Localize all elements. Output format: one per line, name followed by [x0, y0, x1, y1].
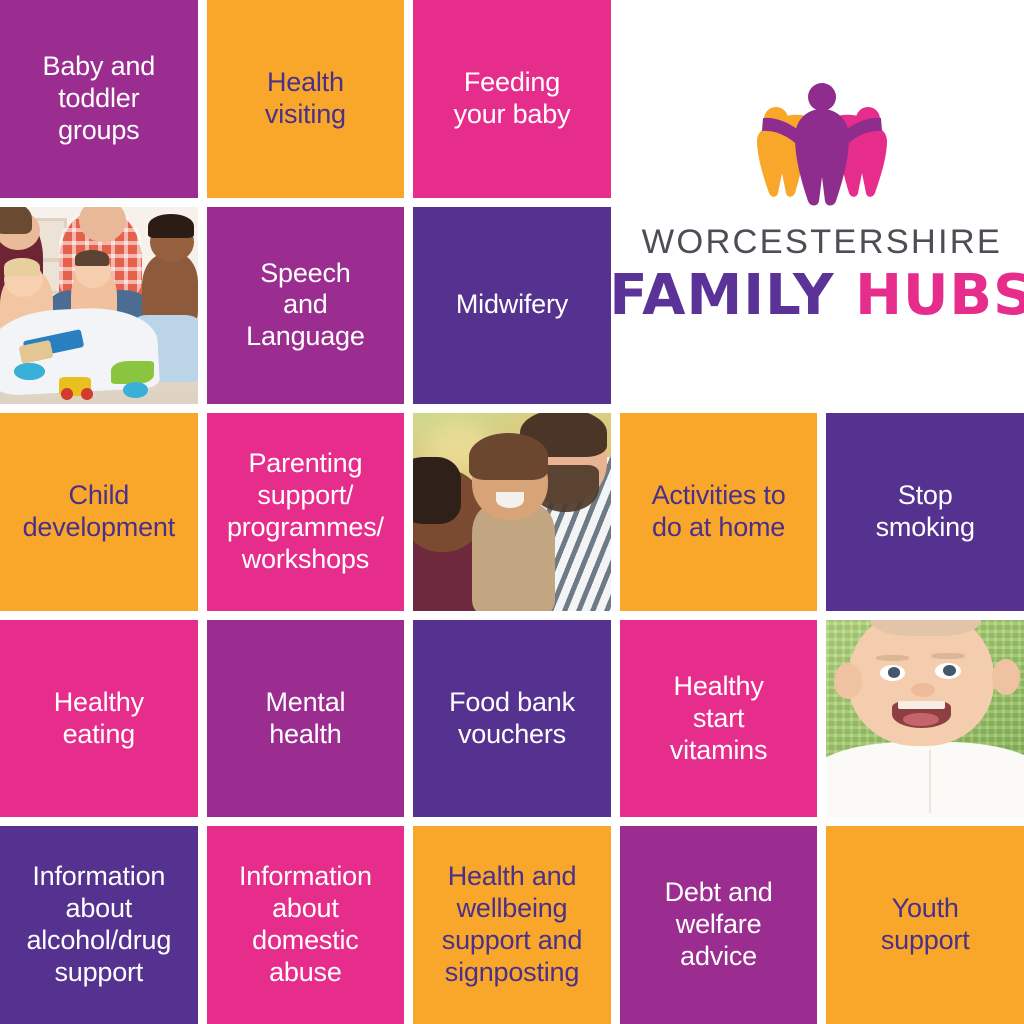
logo-text-family-hubs: FAMILY HUBS — [609, 268, 1024, 324]
family-outdoors-photo — [413, 413, 611, 611]
tile-health-wellbeing-support[interactable]: Health and wellbeing support and signpos… — [413, 826, 611, 1024]
tile-feeding-your-baby[interactable]: Feeding your baby — [413, 0, 611, 198]
playgroup-photo — [0, 207, 198, 405]
tile-label: Parenting support/ programmes/ workshops — [219, 446, 392, 577]
tile-speech-and-language[interactable]: Speech and Language — [207, 207, 405, 405]
tile-food-bank-vouchers[interactable]: Food bank vouchers — [413, 620, 611, 818]
playgroup-photo-toyC — [61, 388, 73, 400]
family-of-three-icon — [738, 81, 906, 213]
smiling-baby-photo-body — [826, 742, 1024, 817]
tile-stop-smoking[interactable]: Stop smoking — [826, 413, 1024, 611]
logo-text-hubs: HUBS — [855, 263, 1024, 328]
playgroup-photo-toyF — [123, 382, 149, 398]
family-outdoors-photo-kid-smile — [496, 492, 524, 508]
tile-label: Baby and toddler groups — [35, 49, 164, 149]
tile-label: Child development — [15, 478, 183, 546]
family-outdoors-photo-kid-hair — [469, 433, 548, 480]
smiling-baby-photo-browL — [876, 655, 910, 661]
playgroup-photo-baby1-hair — [4, 258, 40, 276]
tile-label: Healthy eating — [46, 685, 152, 753]
tile-label: Health visiting — [257, 65, 354, 133]
tile-domestic-abuse[interactable]: Information about domestic abuse — [207, 826, 405, 1024]
tile-activities-to-do-at-home[interactable]: Activities to do at home — [620, 413, 818, 611]
smiling-baby-photo-pupR — [943, 665, 956, 676]
tile-label: Health and wellbeing support and signpos… — [434, 859, 590, 990]
tile-label: Mental health — [257, 685, 353, 753]
tile-debt-and-welfare-advice[interactable]: Debt and welfare advice — [620, 826, 818, 1024]
playgroup-photo-toyD — [81, 388, 93, 400]
smiling-baby-photo-earL — [834, 663, 862, 699]
smiling-baby-photo-teeth — [898, 701, 945, 709]
tile-label: Debt and welfare advice — [657, 875, 781, 975]
logo-text-worcestershire: WORCESTERSHIRE — [642, 223, 1003, 262]
tile-label: Healthy start vitamins — [662, 669, 775, 769]
playgroup-photo-baby2-hair — [75, 250, 109, 266]
tile-mental-health[interactable]: Mental health — [207, 620, 405, 818]
tile-midwifery[interactable]: Midwifery — [413, 207, 611, 405]
logo-panel: WORCESTERSHIREFAMILY HUBS — [620, 0, 1024, 404]
tile-health-visiting[interactable]: Health visiting — [207, 0, 405, 198]
tile-label: Activities to do at home — [644, 478, 794, 546]
tile-alcohol-drug-support[interactable]: Information about alcohol/drug support — [0, 826, 198, 1024]
playgroup-photo-toyE — [111, 361, 154, 385]
tile-label: Youth support — [873, 891, 978, 959]
family-outdoors-photo-mom-hair — [413, 457, 460, 524]
logo-text-family: FAMILY — [609, 263, 834, 328]
smiling-baby-photo-nose — [911, 683, 935, 697]
tile-child-development[interactable]: Child development — [0, 413, 198, 611]
smiling-baby-photo-seam — [929, 750, 931, 813]
tile-parenting-support[interactable]: Parenting support/ programmes/ workshops — [207, 413, 405, 611]
smiling-baby-photo — [826, 620, 1024, 818]
tile-label: Information about alcohol/drug support — [18, 859, 179, 990]
family-outdoors-photo-kid-body — [472, 504, 555, 611]
playgroup-photo-baby3-hair — [148, 214, 193, 238]
tile-healthy-start-vitamins[interactable]: Healthy start vitamins — [620, 620, 818, 818]
playgroup-photo-mom-hair — [0, 207, 32, 235]
smiling-baby-photo-earR — [992, 659, 1020, 695]
tile-label: Speech and Language — [238, 256, 373, 356]
tile-label: Stop smoking — [868, 478, 983, 546]
tile-label: Food bank vouchers — [441, 685, 583, 753]
tile-baby-and-toddler-groups[interactable]: Baby and toddler groups — [0, 0, 198, 198]
tile-healthy-eating[interactable]: Healthy eating — [0, 620, 198, 818]
tile-label: Information about domestic abuse — [231, 859, 380, 990]
tile-label: Midwifery — [448, 287, 576, 323]
services-grid: Baby and toddler groupsHealth visitingFe… — [0, 0, 1024, 1024]
tile-youth-support[interactable]: Youth support — [826, 826, 1024, 1024]
tile-label: Feeding your baby — [446, 65, 579, 133]
smiling-baby-photo-browR — [931, 653, 965, 659]
